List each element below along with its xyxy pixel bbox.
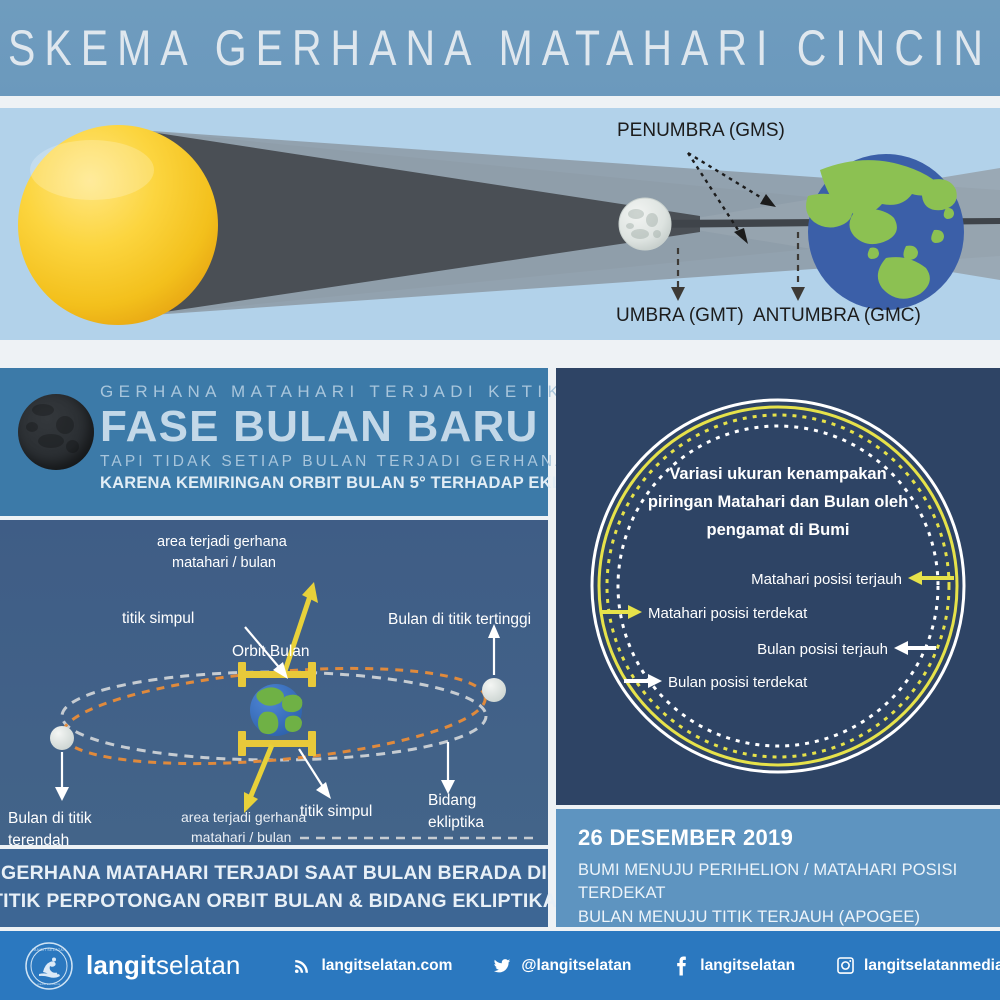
moon-orbit-panel: area terjadi gerhana matahari / bulan ti… (0, 520, 548, 845)
label-node-top: titik simpul (122, 610, 194, 627)
social-label-website: langitselatan.com (321, 957, 452, 975)
label-ecliptic-plane-line1: Bidang (428, 792, 476, 809)
label-moon-orbit: Orbit Bulan (232, 643, 310, 660)
eclipse-area-arrow-top (283, 593, 311, 677)
svg-text:LANGITSELATAN: LANGITSELATAN (32, 948, 67, 952)
social-link-instagram[interactable]: langitselatanmedia (835, 956, 1000, 976)
orbit-caption-panel: GERHANA MATAHARI TERJADI SAAT BULAN BERA… (0, 849, 548, 927)
moon-lowest-marker (50, 726, 74, 750)
instagram-icon (835, 956, 855, 976)
eclipse-geometry-svg: PENUMBRA (GMS) UMBRA (GMT) ANTUMBRA (GMC… (0, 108, 1000, 340)
label-moon-highest: Bulan di titik tertinggi (388, 611, 531, 628)
label-sun-farthest: Matahari posisi terjauh (751, 571, 902, 588)
social-links: langitselatan.com @langitselatan langits… (292, 956, 1000, 976)
brand-bold: langit (86, 950, 156, 980)
new-moon-line-4: KARENA KEMIRINGAN ORBIT BULAN 5° TERHADA… (100, 474, 536, 493)
twitter-icon (492, 956, 512, 976)
earth-body (806, 154, 964, 310)
new-moon-phase-panel: GERHANA MATAHARI TERJADI KETIKA FASE BUL… (0, 368, 548, 516)
label-moon-farthest: Bulan posisi terjauh (757, 641, 888, 658)
label-eclipse-area-bottom-line2: matahari / bulan (191, 829, 291, 845)
new-moon-icon (18, 394, 94, 470)
label-eclipse-area-top-line1: area terjadi gerhana (157, 534, 288, 550)
label-moon-nearest: Bulan posisi terdekat (668, 674, 808, 691)
new-moon-line-2: FASE BULAN BARU (100, 404, 536, 450)
label-umbra: UMBRA (GMT) (616, 305, 744, 326)
apparent-size-title-line2: piringan Matahari dan Bulan oleh (648, 493, 908, 511)
label-moon-lowest-line1: Bulan di titik (8, 810, 92, 827)
label-ecliptic-plane-line2: ekliptika (428, 814, 484, 831)
apparent-size-panel: Variasi ukuran kenampakan piringan Matah… (556, 368, 1000, 805)
brand-light: selatan (156, 950, 241, 980)
apparent-size-svg: Variasi ukuran kenampakan piringan Matah… (556, 368, 1000, 805)
apparent-size-title-line1: Variasi ukuran kenampakan (669, 465, 886, 483)
header-bar: SKEMA GERHANA MATAHARI CINCIN (0, 0, 1000, 96)
umbra-arrowhead (671, 287, 685, 301)
infographic-root: SKEMA GERHANA MATAHARI CINCIN (0, 0, 1000, 1000)
label-sun-nearest: Matahari posisi terdekat (648, 605, 808, 622)
brand-block[interactable]: LANGITSELATAN media astronomi langitsela… (24, 941, 240, 991)
new-moon-line-1: GERHANA MATAHARI TERJADI KETIKA (100, 382, 536, 402)
brand-wordmark: langitselatan (86, 950, 240, 981)
new-moon-line-3: TAPI TIDAK SETIAP BULAN TERJADI GERHANA (100, 453, 536, 471)
caption-line-2: TITIK PERPOTONGAN ORBIT BULAN & BIDANG E… (0, 888, 557, 916)
social-link-website[interactable]: langitselatan.com (292, 956, 452, 976)
label-eclipse-area-top-line2: matahari / bulan (172, 555, 276, 571)
label-moon-lowest-line2: terendah (8, 832, 69, 845)
label-penumbra: PENUMBRA (GMS) (617, 120, 785, 141)
facebook-icon (671, 956, 691, 976)
new-moon-text-block: GERHANA MATAHARI TERJADI KETIKA FASE BUL… (100, 382, 536, 493)
rss-icon (292, 956, 312, 976)
langitselatan-seal-icon: LANGITSELATAN media astronomi (24, 941, 74, 991)
scene-divider (0, 340, 1000, 368)
eclipse-area-arrow-bottom (248, 745, 272, 803)
event-date-title: 26 DESEMBER 2019 (578, 825, 978, 851)
svg-text:media astronomi: media astronomi (38, 983, 61, 986)
label-node-bottom: titik simpul (300, 803, 372, 820)
event-date-line-2: BULAN MENUJU TITIK TERJAUH (APOGEE) (578, 906, 978, 929)
event-date-panel: 26 DESEMBER 2019 BUMI MENUJU PERIHELION … (556, 809, 1000, 927)
footer-bar: LANGITSELATAN media astronomi langitsela… (0, 931, 1000, 1000)
sun-body (18, 125, 218, 325)
antumbra-arrowhead (791, 287, 805, 301)
page-title: SKEMA GERHANA MATAHARI CINCIN (8, 19, 992, 76)
arrow-moon-farthest (894, 641, 936, 655)
label-eclipse-area-bottom-line1: area terjadi gerhana (181, 809, 307, 825)
moon-orbit-svg: area terjadi gerhana matahari / bulan ti… (0, 520, 548, 845)
header-divider (0, 96, 1000, 108)
social-label-facebook: langitselatan (700, 957, 795, 975)
label-antumbra: ANTUMBRA (GMC) (753, 305, 921, 326)
earth-small-icon (250, 684, 302, 736)
eclipse-geometry-scene: PENUMBRA (GMS) UMBRA (GMT) ANTUMBRA (GMC… (0, 108, 1000, 340)
event-date-line-1: BUMI MENUJU PERIHELION / MATAHARI POSISI… (578, 859, 978, 906)
social-label-instagram: langitselatanmedia (864, 957, 1000, 975)
apparent-size-title-line3: pengamat di Bumi (706, 521, 849, 539)
caption-line-1: GERHANA MATAHARI TERJADI SAAT BULAN BERA… (1, 860, 547, 888)
moon-highest-marker (482, 678, 506, 702)
social-label-twitter: @langitselatan (521, 957, 631, 975)
social-link-twitter[interactable]: @langitselatan (492, 956, 631, 976)
social-link-facebook[interactable]: langitselatan (671, 956, 795, 976)
moon-body (619, 198, 671, 250)
